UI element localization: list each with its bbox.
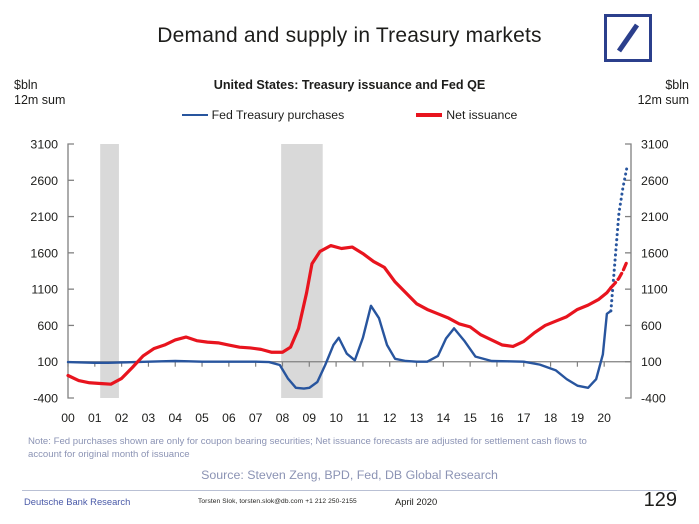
svg-text:03: 03 — [142, 411, 156, 425]
svg-text:2100: 2100 — [30, 210, 58, 224]
y-axis-labels-left: -40010060011001600210026003100 — [30, 138, 58, 406]
svg-text:01: 01 — [88, 411, 102, 425]
svg-text:09: 09 — [303, 411, 317, 425]
svg-text:100: 100 — [37, 355, 58, 369]
svg-text:18: 18 — [544, 411, 558, 425]
legend-swatch-blue-icon — [182, 114, 208, 117]
svg-text:07: 07 — [249, 411, 263, 425]
svg-text:16: 16 — [490, 411, 504, 425]
svg-text:05: 05 — [195, 411, 209, 425]
y-axis-labels-right: -40010060011001600210026003100 — [641, 138, 669, 406]
svg-text:1600: 1600 — [30, 246, 58, 260]
svg-text:2600: 2600 — [30, 174, 58, 188]
svg-text:00: 00 — [61, 411, 75, 425]
chart-plot-area: -40010060011001600210026003100 -40010060… — [0, 126, 699, 426]
footer-brand-label: Deutsche Bank Research — [24, 496, 130, 507]
svg-text:-400: -400 — [641, 392, 666, 406]
chart-axes — [68, 144, 631, 398]
chart-series — [68, 167, 627, 388]
page-number: 129 — [644, 489, 677, 512]
svg-text:02: 02 — [115, 411, 129, 425]
x-axis-labels: 0001020304050607080910111213141516171819… — [61, 411, 611, 425]
footer-contact-label: Torsten Slok, torsten.slok@db.com +1 212… — [198, 498, 357, 505]
svg-text:14: 14 — [437, 411, 451, 425]
deutsche-bank-logo-icon — [604, 14, 652, 62]
svg-text:1100: 1100 — [641, 283, 668, 297]
chart-note: Note: Fed purchases shown are only for c… — [28, 436, 588, 461]
svg-text:12: 12 — [383, 411, 397, 425]
svg-text:20: 20 — [597, 411, 611, 425]
svg-text:3100: 3100 — [30, 138, 58, 152]
svg-text:08: 08 — [276, 411, 290, 425]
svg-text:600: 600 — [37, 319, 58, 333]
legend-item-net-issuance: Net issuance — [416, 108, 517, 122]
svg-text:-400: -400 — [33, 392, 58, 406]
svg-text:2100: 2100 — [641, 210, 669, 224]
legend-swatch-red-icon — [416, 113, 442, 117]
svg-text:3100: 3100 — [641, 138, 669, 152]
footer-divider — [22, 490, 677, 491]
svg-text:600: 600 — [641, 319, 662, 333]
svg-text:13: 13 — [410, 411, 424, 425]
svg-text:11: 11 — [357, 411, 370, 425]
chart-subtitle: United States: Treasury issuance and Fed… — [0, 78, 699, 92]
svg-text:15: 15 — [463, 411, 477, 425]
svg-text:2600: 2600 — [641, 174, 669, 188]
svg-text:17: 17 — [517, 411, 531, 425]
footer-date-label: April 2020 — [395, 496, 437, 507]
svg-text:04: 04 — [168, 411, 182, 425]
svg-text:19: 19 — [571, 411, 585, 425]
chart-legend: Fed Treasury purchases Net issuance — [0, 108, 699, 122]
svg-text:06: 06 — [222, 411, 236, 425]
legend-label-fed-purchases: Fed Treasury purchases — [212, 108, 345, 122]
svg-text:1600: 1600 — [641, 246, 669, 260]
svg-text:10: 10 — [329, 411, 343, 425]
chart-source: Source: Steven Zeng, BPD, Fed, DB Global… — [0, 468, 699, 482]
svg-text:1100: 1100 — [31, 283, 58, 297]
recession-bands — [100, 144, 323, 398]
svg-text:100: 100 — [641, 355, 662, 369]
legend-item-fed-purchases: Fed Treasury purchases — [182, 108, 345, 122]
chart-svg: -40010060011001600210026003100 -40010060… — [0, 126, 699, 426]
legend-label-net-issuance: Net issuance — [446, 108, 517, 122]
page-title: Demand and supply in Treasury markets — [0, 24, 699, 48]
